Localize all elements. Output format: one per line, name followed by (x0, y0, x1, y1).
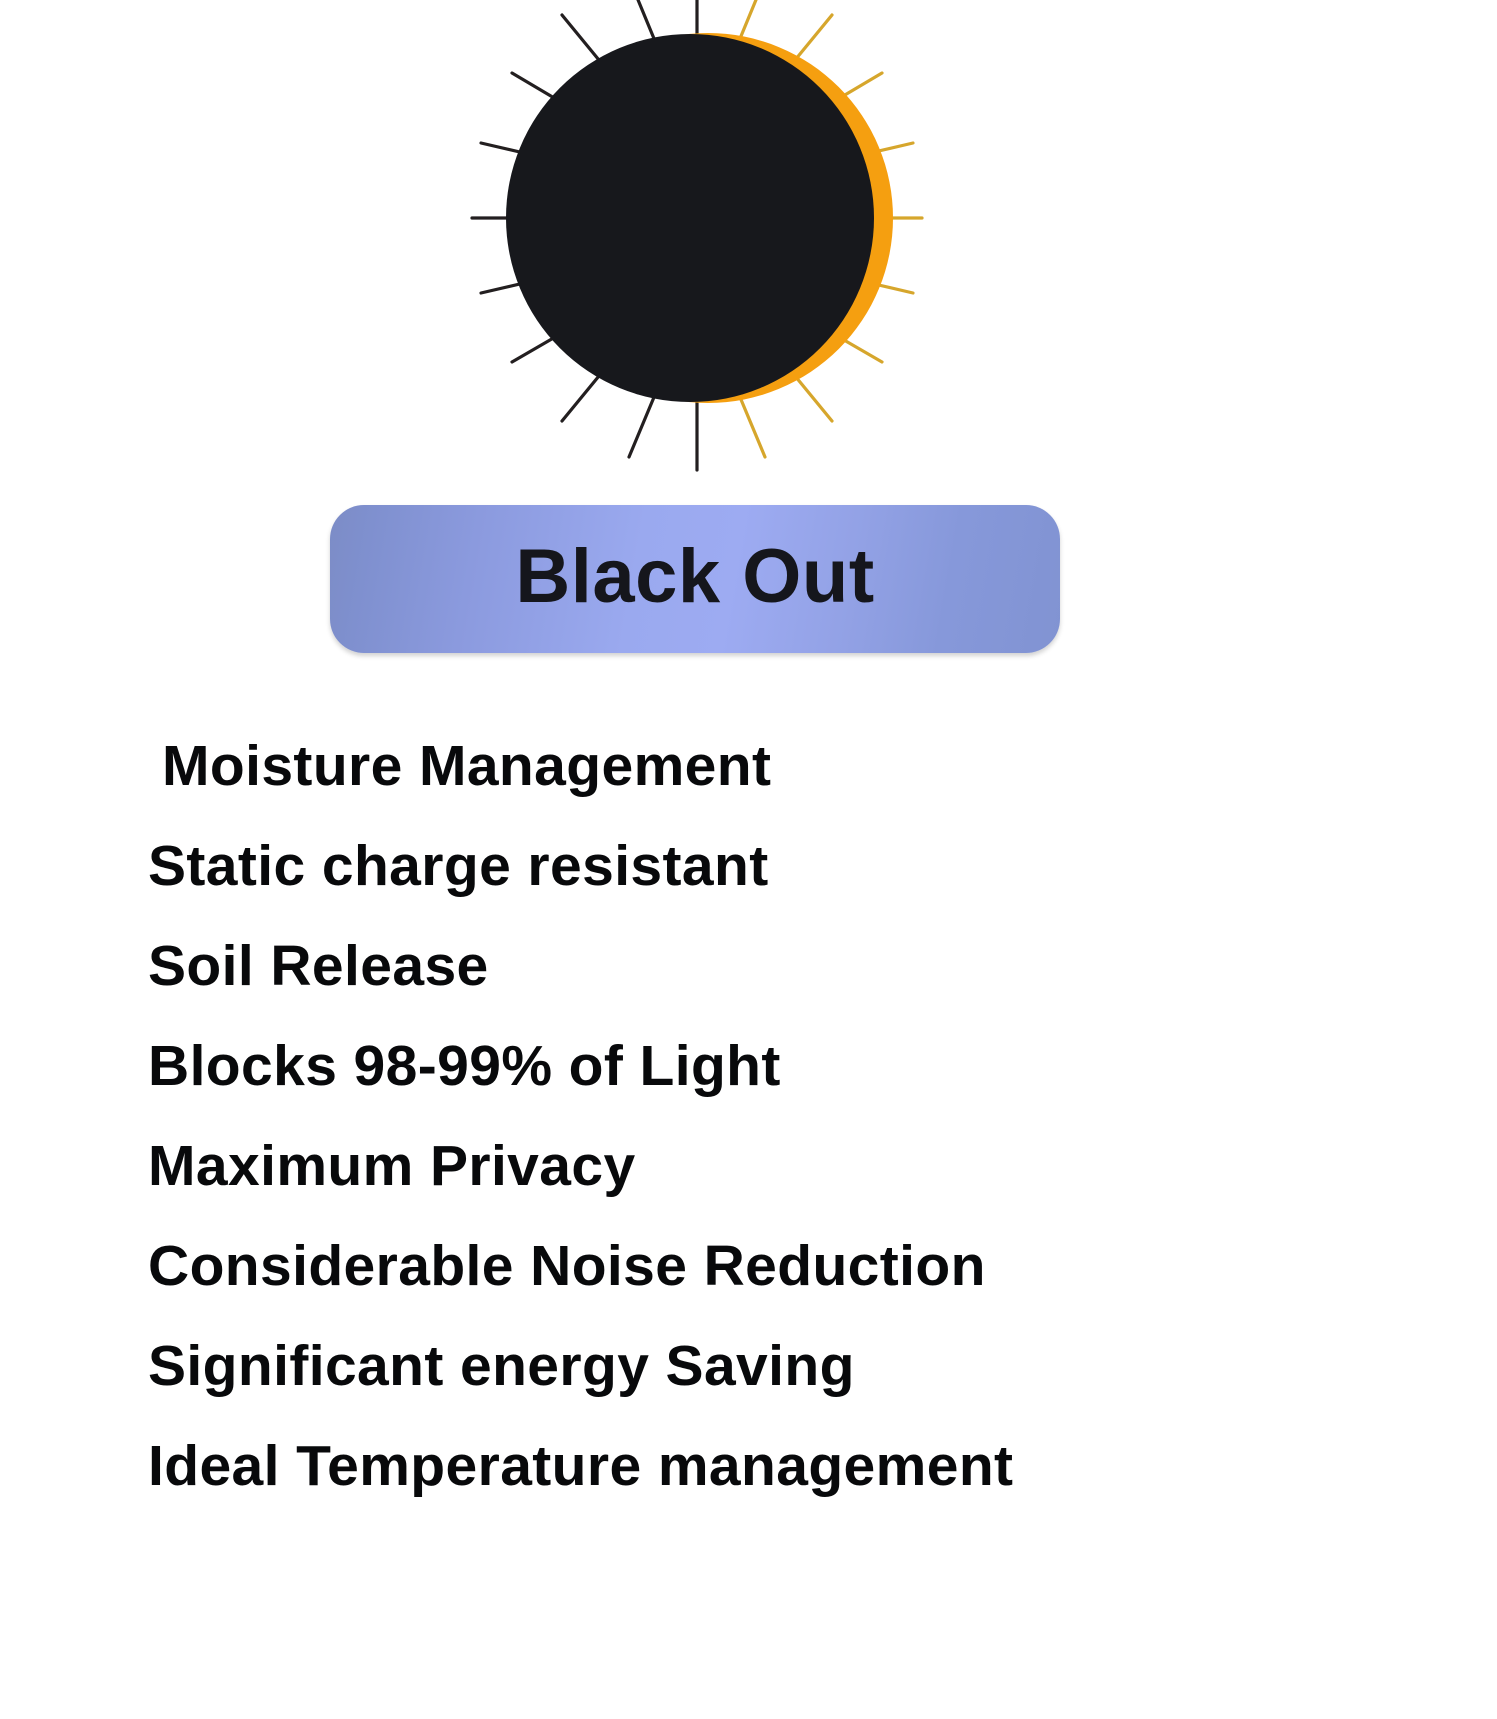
blackout-label: Black Out (515, 539, 874, 615)
list-item: Moisture Management (148, 716, 1478, 816)
feature-list: Moisture Management Static charge resist… (148, 716, 1478, 1516)
list-item: Blocks 98-99% of Light (148, 1016, 1478, 1116)
blackout-banner[interactable]: Black Out (330, 505, 1060, 653)
eclipse-sun-icon (0, 0, 1497, 500)
list-item: Ideal Temperature management (148, 1416, 1478, 1516)
eclipse-disc (506, 34, 874, 402)
list-item: Considerable Noise Reduction (148, 1216, 1478, 1316)
list-item: Static charge resistant (148, 816, 1478, 916)
list-item: Maximum Privacy (148, 1116, 1478, 1216)
list-item: Soil Release (148, 916, 1478, 1016)
list-item: Significant energy Saving (148, 1316, 1478, 1416)
